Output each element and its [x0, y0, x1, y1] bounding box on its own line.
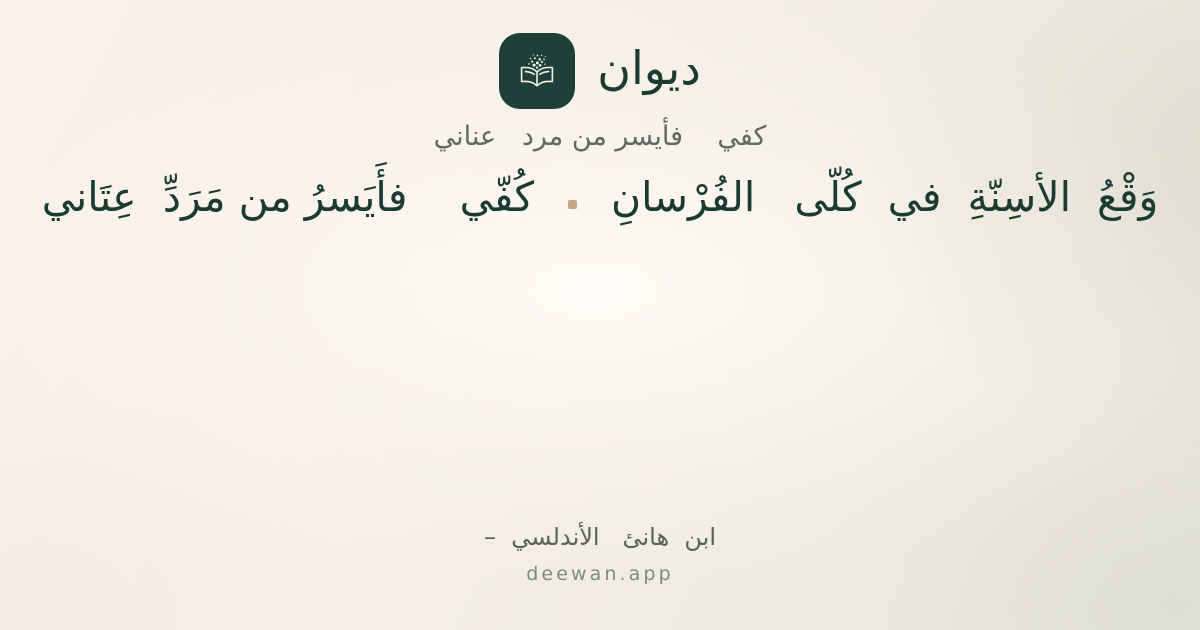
- open-book-sparkles-icon: [515, 49, 559, 93]
- card-footer: ابن هانئ الأندلسي – deewan.app: [0, 522, 1200, 586]
- verse-line: كُفّي فأَيَسرُ من مَرَدِّ عِتَاني وَقْعُ…: [0, 168, 1200, 227]
- brand-header: ديوان: [499, 31, 701, 111]
- verse-hemistich-first: كُفّي فأَيَسرُ من مَرَدِّ عِتَاني: [42, 168, 534, 227]
- share-card: ديوان كفي فأيسر من مرد عناني كُفّي فأَيَ…: [0, 0, 1200, 630]
- site-url: deewan.app: [526, 563, 673, 586]
- verse-subtitle: كفي فأيسر من مرد عناني: [434, 119, 767, 155]
- verse-hemistich-second: وَقْعُ الأسِنّةِ في كُلّى الفُرْسانِ: [611, 168, 1158, 227]
- brand-title: ديوان: [597, 45, 701, 97]
- app-logo: [499, 33, 575, 109]
- poet-attribution: ابن هانئ الأندلسي –: [484, 522, 716, 553]
- hemistich-separator-dot: [568, 200, 577, 209]
